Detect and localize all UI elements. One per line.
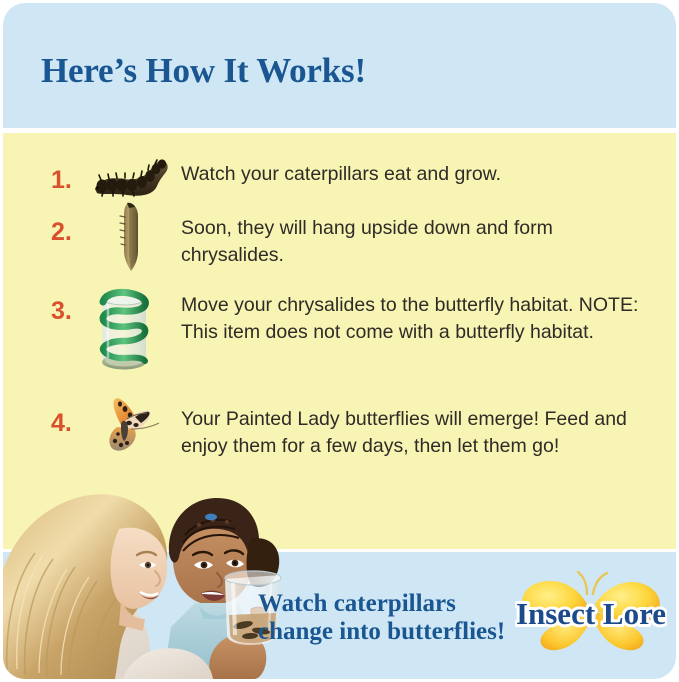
how-it-works-card: Here’s How It Works! 1. — [3, 3, 676, 679]
page-title: Here’s How It Works! — [41, 51, 366, 91]
chrysalis-icon — [107, 201, 157, 273]
caterpillar-icon — [89, 155, 175, 201]
step-number: 1. — [51, 166, 72, 195]
step-text: Watch your caterpillars eat and grow. — [181, 161, 641, 188]
insect-lore-logo[interactable]: Insect Lore Insect Lore — [515, 564, 667, 656]
tagline-line-1: Watch caterpillars — [258, 590, 523, 618]
step-number: 2. — [51, 218, 72, 247]
logo-text: Insect Lore — [516, 596, 666, 631]
butterfly-habitat-icon — [91, 286, 157, 374]
step-text: Move your chrysalides to the butterfly h… — [181, 292, 641, 346]
step-text: Soon, they will hang upside down and for… — [181, 215, 641, 269]
footer-tagline: Watch caterpillars change into butterfli… — [258, 590, 523, 646]
step-number: 3. — [51, 297, 72, 326]
header-band: Here’s How It Works! — [3, 3, 676, 128]
tagline-line-2: change into butterflies! — [258, 618, 523, 646]
step-number: 4. — [51, 409, 72, 438]
